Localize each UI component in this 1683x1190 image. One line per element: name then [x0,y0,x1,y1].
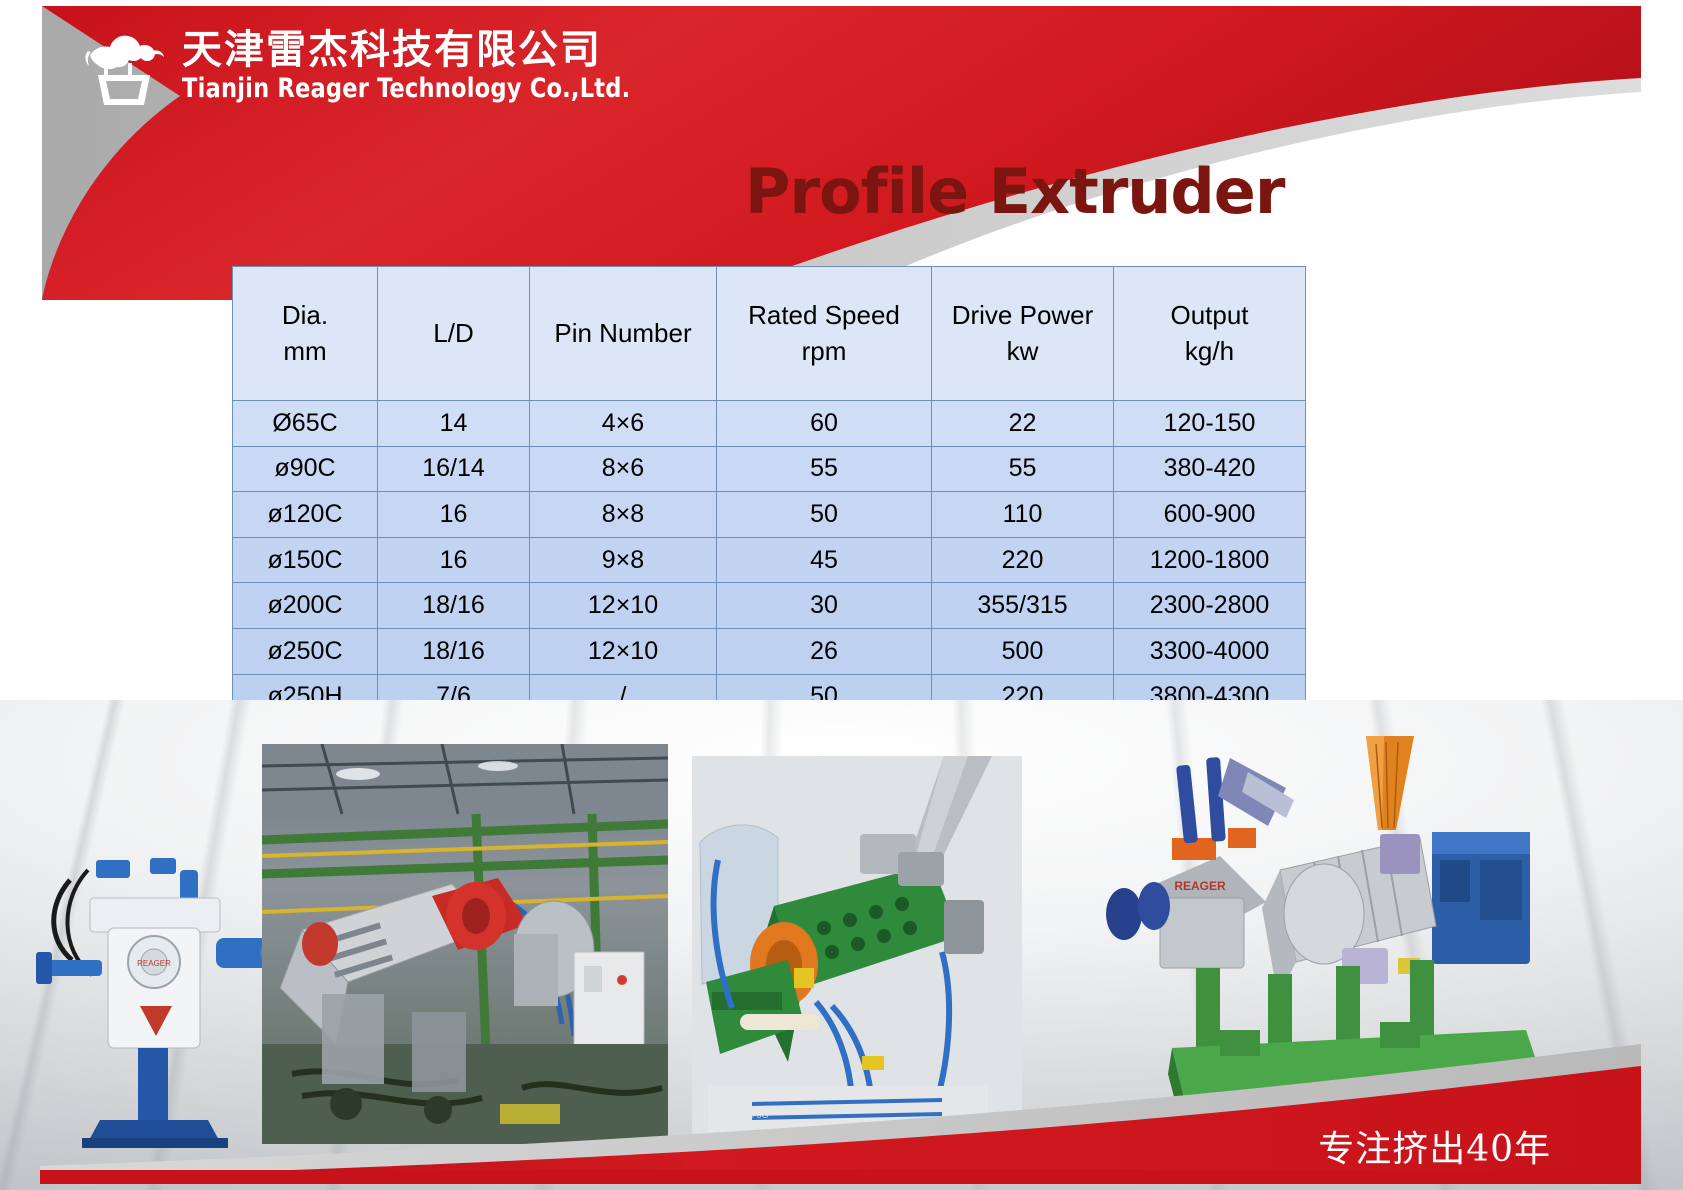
header-banner: 天津雷杰科技有限公司 Tianjin Reager Technology Co.… [0,0,1683,300]
table-row: ø250C 18/16 12×10 26 500 3300-4000 [233,628,1306,674]
cell-dia: Ø65C [233,401,378,447]
lion-logo-icon [82,25,168,107]
cell-power: 55 [932,446,1114,492]
cell-dia: ø250C [233,628,378,674]
cell-ld: 16/14 [378,446,530,492]
cell-ld: 14 [378,401,530,447]
product-gallery: REAGER [0,700,1683,1190]
cell-output: 3300-4000 [1114,628,1306,674]
cell-speed: 30 [717,583,932,629]
table-row: ø90C 16/14 8×6 55 55 380-420 [233,446,1306,492]
column-header-output-unit: kg/h [1114,334,1305,369]
table-row: ø150C 16 9×8 45 220 1200-1800 [233,537,1306,583]
column-header-ld-line1: L/D [433,318,473,348]
footer-swoosh-graphic [0,700,1683,1190]
column-header-pin-number: Pin Number [530,267,717,401]
column-header-drive-power: Drive Power kw [932,267,1114,401]
cell-power: 220 [932,537,1114,583]
table-row: Ø65C 14 4×6 60 22 120-150 [233,401,1306,447]
column-header-output: Output kg/h [1114,267,1306,401]
column-header-power-line1: Drive Power [952,300,1094,330]
cell-pin: 8×6 [530,446,717,492]
cell-pin: 12×10 [530,583,717,629]
cell-speed: 55 [717,446,932,492]
cell-dia: ø120C [233,492,378,538]
column-header-speed-unit: rpm [717,334,931,369]
table-header-row: Dia. mm L/D Pin Number Rated Speed rpm D… [233,267,1306,401]
company-name-en: Tianjin Reager Technology Co.,Ltd. [182,75,630,102]
cell-output: 2300-2800 [1114,583,1306,629]
cell-dia: ø200C [233,583,378,629]
cell-power: 110 [932,492,1114,538]
cell-dia: ø150C [233,537,378,583]
table-header: Dia. mm L/D Pin Number Rated Speed rpm D… [233,267,1306,401]
cell-speed: 26 [717,628,932,674]
table-body: Ø65C 14 4×6 60 22 120-150 ø90C 16/14 8×6… [233,401,1306,720]
cell-ld: 18/16 [378,628,530,674]
column-header-dia-unit: mm [233,334,377,369]
column-header-rated-speed: Rated Speed rpm [717,267,932,401]
column-header-power-unit: kw [932,334,1113,369]
column-header-dia-line1: Dia. [282,300,328,330]
column-header-output-line1: Output [1170,300,1248,330]
cell-ld: 16 [378,492,530,538]
cell-ld: 18/16 [378,583,530,629]
cell-output: 120-150 [1114,401,1306,447]
table-row: ø120C 16 8×8 50 110 600-900 [233,492,1306,538]
cell-output: 380-420 [1114,446,1306,492]
cell-speed: 45 [717,537,932,583]
company-name-block: 天津雷杰科技有限公司 Tianjin Reager Technology Co.… [182,30,664,102]
cell-pin: 4×6 [530,401,717,447]
cell-output: 1200-1800 [1114,537,1306,583]
cell-dia: ø90C [233,446,378,492]
company-logo: 天津雷杰科技有限公司 Tianjin Reager Technology Co.… [82,24,642,108]
table-row: ø200C 18/16 12×10 30 355/315 2300-2800 [233,583,1306,629]
footer-slogan: 专注挤出40年 [1318,1120,1551,1172]
specification-table: Dia. mm L/D Pin Number Rated Speed rpm D… [232,266,1306,720]
cell-pin: 9×8 [530,537,717,583]
cell-power: 355/315 [932,583,1114,629]
cell-speed: 60 [717,401,932,447]
cell-power: 22 [932,401,1114,447]
company-name-cn: 天津雷杰科技有限公司 [182,30,664,70]
page-title: Profile Extruder [745,155,1284,228]
cell-output: 600-900 [1114,492,1306,538]
cell-speed: 50 [717,492,932,538]
cell-ld: 16 [378,537,530,583]
cell-pin: 8×8 [530,492,717,538]
cell-power: 500 [932,628,1114,674]
column-header-ld: L/D [378,267,530,401]
slide-root: 天津雷杰科技有限公司 Tianjin Reager Technology Co.… [0,0,1683,1190]
column-header-speed-line1: Rated Speed [748,300,900,330]
cell-pin: 12×10 [530,628,717,674]
column-header-pin-line1: Pin Number [554,318,691,348]
column-header-dia: Dia. mm [233,267,378,401]
